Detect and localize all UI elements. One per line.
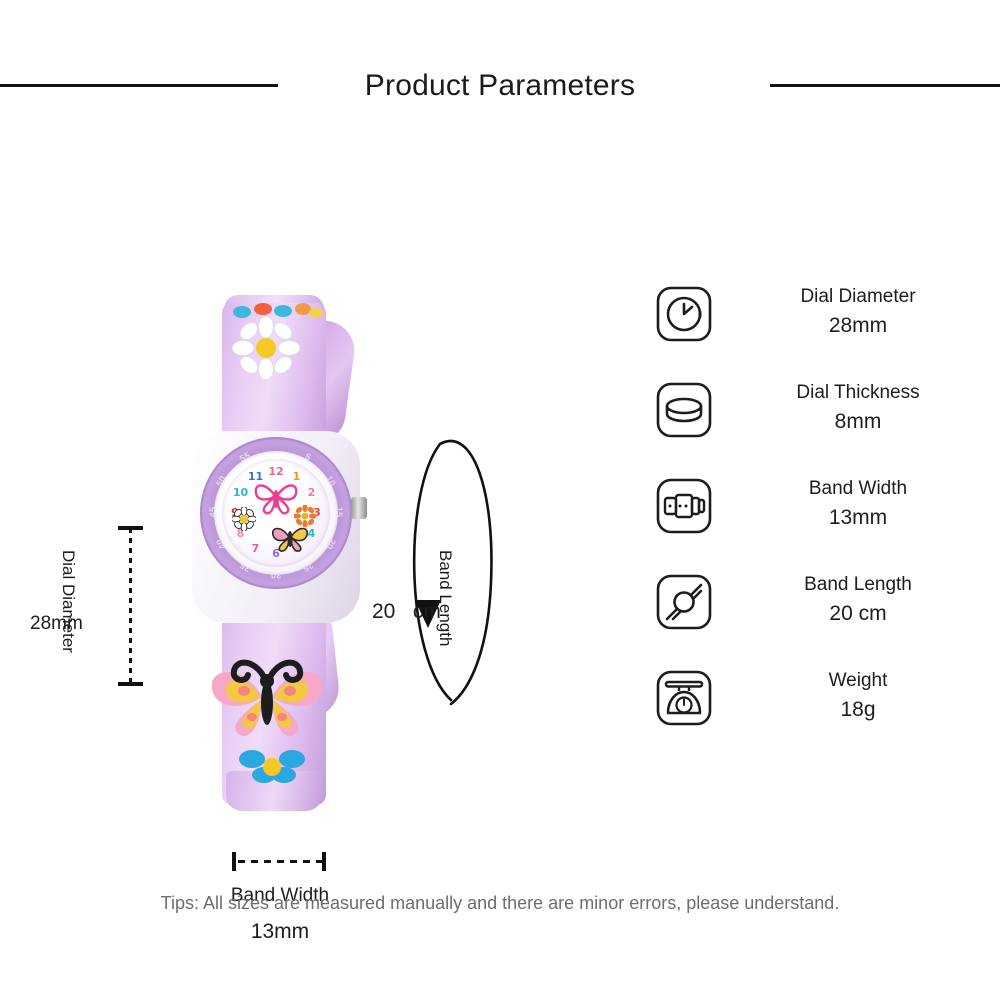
dial-diameter-cap-top xyxy=(118,526,143,530)
spec-text-band-length: Band Length 20 cm xyxy=(743,571,973,629)
watch-strap-icon xyxy=(655,573,713,631)
band-width-cap-right xyxy=(322,852,326,871)
spec-value: 13mm xyxy=(743,503,973,533)
band-length-callout-value: 20 cm xyxy=(372,600,441,624)
spec-value: 28mm xyxy=(743,311,973,341)
spec-label: Band Width xyxy=(743,475,973,503)
spec-text-dial-diameter: Dial Diameter 28mm xyxy=(743,283,973,341)
band-width-callout-value: 13mm xyxy=(180,920,380,944)
tips-note: Tips: All sizes are measured manually an… xyxy=(0,893,1000,914)
kitchen-scale-icon xyxy=(655,669,713,727)
product-parameters-page: Product Parameters xyxy=(0,0,1000,1000)
band-length-number: 20 xyxy=(372,600,395,623)
product-photo-area: 510152025303540455055 121234567891011 xyxy=(0,150,520,850)
spec-text-dial-thickness: Dial Thickness 8mm xyxy=(743,379,973,437)
dial-butterfly-outline-icon xyxy=(250,477,302,515)
watch-dial-icon xyxy=(655,285,713,343)
spec-value: 20 cm xyxy=(743,599,973,629)
daisy-flower-decoration xyxy=(232,317,300,379)
spec-row-band-length: Band Length 20 cm xyxy=(655,573,985,669)
dial-diameter-cap-bottom xyxy=(118,682,143,686)
band-length-unit: cm xyxy=(413,600,441,623)
band-butterfly-decoration xyxy=(192,653,342,749)
spec-value: 18g xyxy=(743,695,973,725)
watch-crown xyxy=(351,497,367,519)
disc-thickness-icon xyxy=(655,381,713,439)
spec-value: 8mm xyxy=(743,407,973,437)
spec-list: Dial Diameter 28mm Dial Thickness 8mm xyxy=(655,285,985,669)
dial-diameter-callout-value: 28mm xyxy=(30,613,83,635)
page-title: Product Parameters xyxy=(0,60,1000,112)
spec-text-band-width: Band Width 13mm xyxy=(743,475,973,533)
buckle-icon xyxy=(655,477,713,535)
spec-label: Weight xyxy=(743,667,973,695)
dial-numeral-2: 2 xyxy=(303,486,321,499)
spec-label: Band Length xyxy=(743,571,973,599)
dial-diameter-dimension-line xyxy=(129,528,132,684)
page-header: Product Parameters xyxy=(0,60,1000,120)
spec-text-weight: Weight 18g xyxy=(743,667,973,725)
spec-label: Dial Thickness xyxy=(743,379,973,407)
dial-numeral-7: 7 xyxy=(247,542,265,555)
spec-row-dial-diameter: Dial Diameter 28mm xyxy=(655,285,985,381)
watch-product-image: 510152025303540455055 121234567891011 xyxy=(170,255,370,815)
band-blue-flower-decoration xyxy=(236,741,308,783)
dial-numeral-10: 10 xyxy=(231,486,249,499)
spec-label: Dial Diameter xyxy=(743,283,973,311)
dial-diameter-callout-label: Dial Diameter xyxy=(58,550,78,670)
dial-butterfly-filled-icon xyxy=(268,521,312,553)
spec-row-dial-thickness: Dial Thickness 8mm xyxy=(655,381,985,477)
spec-row-band-width: Band Width 13mm xyxy=(655,477,985,573)
band-width-cap-left xyxy=(232,852,236,871)
band-width-dimension-line xyxy=(238,860,324,863)
